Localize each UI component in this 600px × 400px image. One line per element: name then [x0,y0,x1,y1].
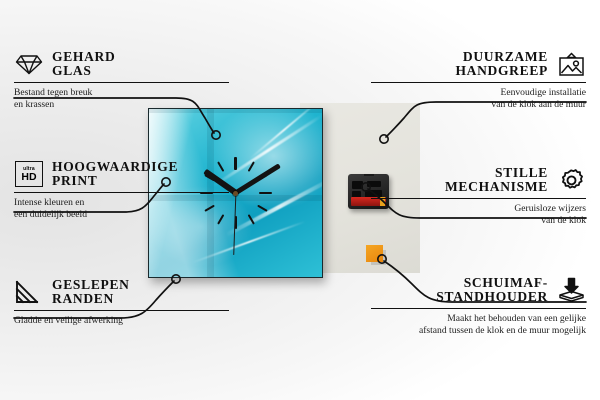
ultra-hd-icon: ultra HD [14,161,44,188]
feature-title-line1: SCHUIMAF- [464,276,548,290]
subtitle-line2: van de klok [541,215,586,226]
feature-subtitle: Gladde en veilige afwerking [14,315,229,327]
feature-duurzame-handgreep: DUURZAME HANDGREEP Eenvoudige installati… [371,50,586,112]
feature-title-line2: PRINT [52,174,178,188]
feature-divider [14,82,229,84]
foam-spacer [366,245,383,262]
subtitle-line1: Maakt het behouden van een gelijke [447,313,586,324]
subtitle-line1: Bestand tegen breuk [14,87,92,98]
feature-geslepen-randen: GESLEPEN RANDEN Gladde en veilige afwerk… [14,278,229,327]
feature-title-line1: STILLE [495,166,548,180]
feature-title-line2: STANDHOUDER [436,290,548,304]
feature-gehard-glas: GEHARD GLAS Bestand tegen breuk en krass… [14,50,229,112]
feature-title-line1: GEHARD [52,50,115,64]
feature-title-line1: HOOGWAARDIGE [52,160,178,174]
feature-title-line2: RANDEN [52,292,130,306]
feature-title-line2: MECHANISME [445,180,548,194]
feature-title-line2: GLAS [52,64,115,78]
subtitle-line1: Gladde en veilige afwerking [14,315,123,326]
subtitle-line2: afstand tussen de klok en de muur mogeli… [419,325,586,336]
feature-title-line2: HANDGREEP [455,64,548,78]
feature-divider [14,192,229,194]
feature-hoogwaardige-print: ultra HD HOOGWAARDIGE PRINT Intense kleu… [14,160,229,222]
feature-subtitle: Maakt het behouden van een gelijke afsta… [371,313,586,338]
ultra-hd-icon-bottom: HD [21,172,36,183]
feature-divider [371,308,586,310]
feature-subtitle: Intense kleuren en een duidelijk beeld [14,197,229,222]
feature-title-line1: GESLEPEN [52,278,130,292]
feature-schuimafstandhouder: SCHUIMAF- STANDHOUDER Maakt het behouden… [371,276,586,338]
feature-divider [371,198,586,200]
clock-center-hub [233,191,238,196]
picture-frame-icon [556,51,586,78]
subtitle-line1: Eenvoudige installatie [500,87,586,98]
subtitle-line2: en krassen [14,99,54,110]
infographic-canvas: GEHARD GLAS Bestand tegen breuk en krass… [0,0,600,400]
subtitle-line1: Intense kleuren en [14,197,84,208]
feature-stille-mechanisme: STILLE MECHANISME Geruisloze wijzers van… [371,166,586,228]
bevelled-edges-icon [14,279,44,306]
feature-divider [371,82,586,84]
subtitle-line2: een duidelijk beeld [14,209,87,220]
feature-divider [14,310,229,312]
gear-icon [556,167,586,194]
subtitle-line1: Geruisloze wijzers [514,203,586,214]
subtitle-line2: van de klok aan de muur [491,99,586,110]
diamond-icon [14,51,44,78]
press-down-icon [556,277,586,304]
feature-subtitle: Geruisloze wijzers van de klok [371,203,586,228]
feature-subtitle: Bestand tegen breuk en krassen [14,87,229,112]
feature-subtitle: Eenvoudige installatie van de klok aan d… [371,87,586,112]
feature-title-line1: DUURZAME [463,50,548,64]
